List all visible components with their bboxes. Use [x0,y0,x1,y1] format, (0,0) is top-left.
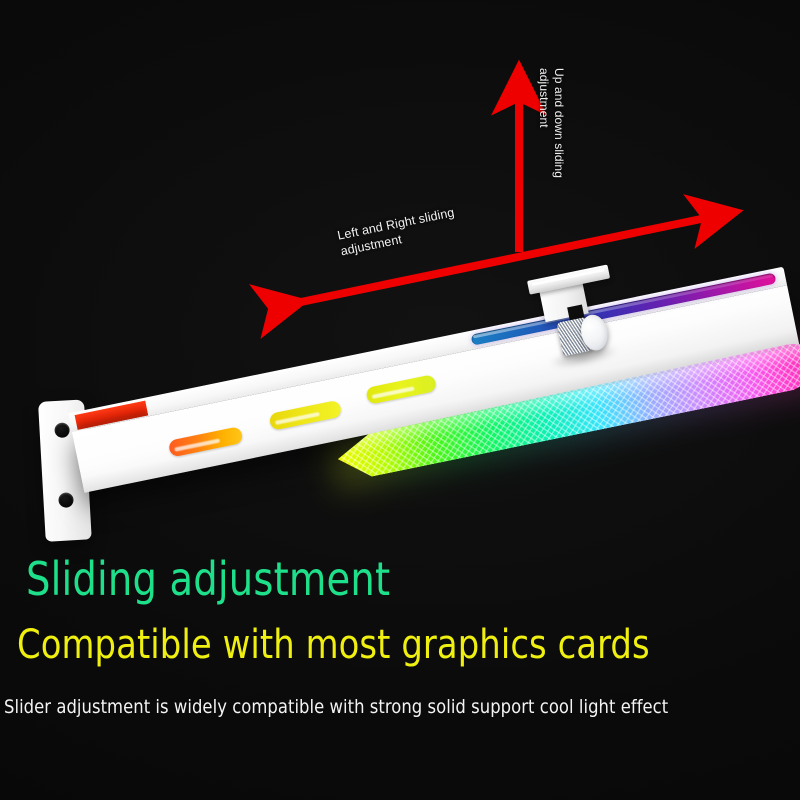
subheadline: Compatible with most graphics cards [17,622,769,668]
headline: Sliding adjustment [26,552,770,606]
description-text: Slider adjustment is widely compatible w… [4,696,772,718]
product-marketing-image: Left and Right sliding adjustment Up and… [0,0,800,800]
up-down-arrow-label: Up and down sliding adjustment [535,68,566,218]
annotation-arrows [0,0,800,800]
